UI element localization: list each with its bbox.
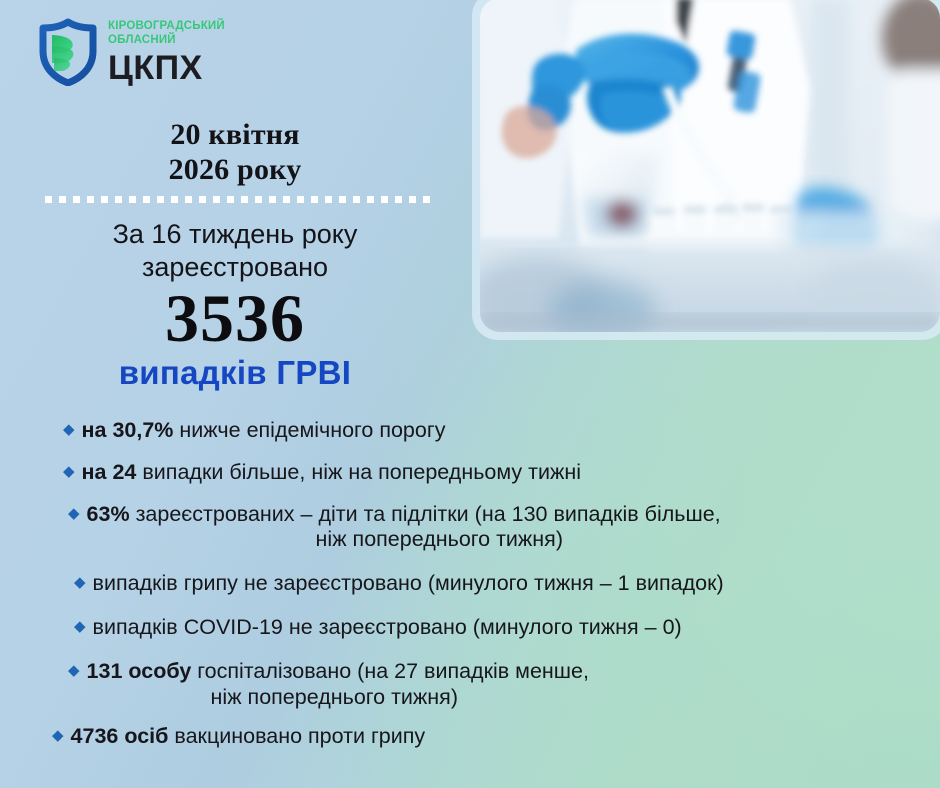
lab-photo-image	[480, 0, 940, 332]
diamond-bullet-icon: ◆	[63, 419, 75, 441]
list-item: ◆ 131 особу госпіталізовано (на 27 випад…	[52, 659, 912, 711]
list-item-rest: вакциновано проти грипу	[168, 724, 425, 748]
list-item-highlight: 63%	[87, 502, 130, 526]
list-item: ◆ 4736 осіб вакциновано проти грипу	[52, 724, 912, 750]
list-item-text: випадків COVID-19 не зареєстровано (мину…	[93, 615, 912, 641]
list-item-second-line: ніж попереднього тижня)	[87, 685, 912, 711]
dotted-divider	[45, 196, 431, 203]
report-date-day: 20 квітня	[0, 118, 470, 153]
organization-logo: КІРОВОГРАДСЬКИЙ ОБЛАСНИЙ ЦКПХ	[38, 18, 225, 86]
report-date: 20 квітня 2026 року	[0, 118, 470, 188]
diamond-bullet-icon: ◆	[63, 461, 75, 483]
list-item-rest: госпіталізовано (на 27 випадків менше,	[191, 659, 589, 683]
total-cases-label: випадків ГРВІ	[0, 356, 470, 389]
report-date-year: 2026 року	[0, 153, 470, 188]
total-cases-number: 3536	[0, 284, 470, 352]
logo-region-line: КІРОВОГРАДСЬКИЙ	[108, 21, 225, 33]
diamond-bullet-icon: ◆	[74, 572, 86, 594]
headline-lead-line2: зареєстровано	[0, 251, 470, 284]
list-item-rest: зареєстрованих – діти та підлітки (на 13…	[130, 502, 721, 526]
list-item-highlight: на 24	[82, 460, 137, 484]
list-item-rest: випадки більше, ніж на попередньому тижн…	[136, 460, 581, 484]
diamond-bullet-icon: ◆	[68, 660, 80, 682]
infographic-poster: КІРОВОГРАДСЬКИЙ ОБЛАСНИЙ ЦКПХ 20 квітня …	[0, 0, 940, 788]
statistics-list: ◆ на 30,7% нижче епідемічного порогу ◆ н…	[52, 418, 912, 750]
list-item-highlight: 131 особу	[87, 659, 192, 683]
list-item-text: на 24 випадки більше, ніж на попередньом…	[82, 460, 912, 486]
list-item: ◆ на 24 випадки більше, ніж на попереднь…	[52, 460, 912, 486]
logo-wordmark: КІРОВОГРАДСЬКИЙ ОБЛАСНИЙ ЦКПХ	[108, 19, 225, 85]
logo-scope-line: ОБЛАСНИЙ	[108, 35, 225, 47]
lab-photo	[480, 0, 940, 332]
list-item: ◆ 63% зареєстрованих – діти та підлітки …	[52, 502, 912, 554]
logo-acronym: ЦКПХ	[108, 51, 225, 85]
list-item-text: на 30,7% нижче епідемічного порогу	[82, 418, 912, 444]
headline-lead-line1: За 16 тиждень року	[0, 218, 470, 251]
list-item: ◆ на 30,7% нижче епідемічного порогу	[52, 418, 912, 444]
list-item: ◆ випадків грипу не зареєстровано (минул…	[52, 571, 912, 597]
diamond-bullet-icon: ◆	[52, 725, 64, 747]
list-item-second-line: ніж попереднього тижня)	[87, 527, 912, 553]
lab-photo-frame	[472, 0, 940, 340]
shield-heart-logo-icon	[38, 18, 98, 86]
diamond-bullet-icon: ◆	[74, 616, 86, 638]
diamond-bullet-icon: ◆	[68, 503, 80, 525]
list-item: ◆ випадків COVID-19 не зареєстровано (ми…	[52, 615, 912, 641]
list-item-rest: випадків грипу не зареєстровано (минулог…	[93, 571, 724, 595]
list-item-text: 4736 осіб вакциновано проти грипу	[71, 724, 912, 750]
headline-lead: За 16 тиждень року зареєстровано	[0, 218, 470, 284]
list-item-rest: випадків COVID-19 не зареєстровано (мину…	[93, 615, 682, 639]
list-item-rest: нижче епідемічного порогу	[173, 418, 445, 442]
list-item-text: 63% зареєстрованих – діти та підлітки (н…	[87, 502, 912, 554]
list-item-text: 131 особу госпіталізовано (на 27 випадкі…	[87, 659, 912, 711]
list-item-highlight: на 30,7%	[82, 418, 174, 442]
list-item-highlight: 4736 осіб	[71, 724, 169, 748]
list-item-text: випадків грипу не зареєстровано (минулог…	[93, 571, 912, 597]
